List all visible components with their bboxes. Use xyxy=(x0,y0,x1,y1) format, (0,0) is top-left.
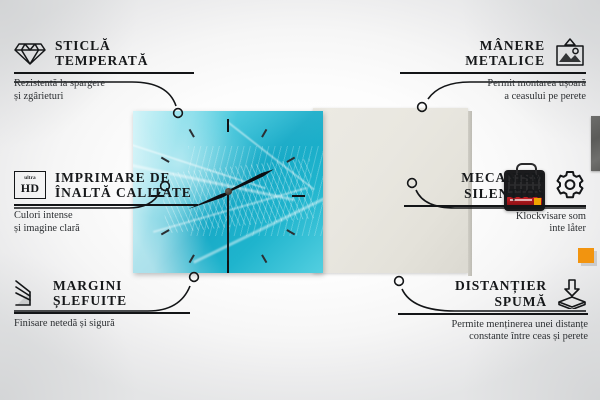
clock-tick xyxy=(227,260,229,273)
infographic-canvas: STICLĂ TEMPERATĂ Rezistentă la spargere … xyxy=(0,0,600,400)
callout-imprimare-inalta-calitate[interactable]: ultra HD IMPRIMARE DE ÎNALTĂ CALITATE Cu… xyxy=(14,170,198,235)
callout-title: MÂNERE METALICE xyxy=(465,38,545,68)
callout-subtitle: Permite menținerea unei distanțe constan… xyxy=(398,319,588,344)
callout-header: DISTANȚIER SPUMĂ xyxy=(398,278,588,309)
callout-title: IMPRIMARE DE ÎNALTĂ CALITATE xyxy=(55,170,192,200)
metal-hanger-plate xyxy=(591,116,600,171)
callout-header: MECANISM SILENȚIOS xyxy=(404,170,586,201)
callout-header: STICLĂ TEMPERATĂ xyxy=(14,38,194,68)
callout-rule xyxy=(398,313,588,315)
callout-title: DISTANȚIER SPUMĂ xyxy=(455,278,547,308)
callout-subtitle: Klockvisare som inte låter xyxy=(404,211,586,236)
callout-title: MECANISM SILENȚIOS xyxy=(461,170,545,200)
callout-rule xyxy=(400,72,586,74)
callout-header: MARGINI ȘLEFUITE xyxy=(14,278,190,308)
diamond-icon xyxy=(14,40,46,66)
callout-rule xyxy=(14,72,194,74)
callout-subtitle: Rezistentă la spargere și zgârieturi xyxy=(14,78,194,103)
callout-rule xyxy=(14,204,198,206)
clock-center-cap xyxy=(225,188,232,195)
callout-header: MÂNERE METALICE xyxy=(400,38,586,68)
callout-manere-metalice[interactable]: MÂNERE METALICE Permit montarea ușoară a… xyxy=(400,38,586,103)
callout-mecanism-silentios[interactable]: MECANISM SILENȚIOS Klockvisare som inte … xyxy=(404,170,586,236)
callout-subtitle: Finisare netedă și sigură xyxy=(14,318,190,331)
polished-edge-icon xyxy=(14,279,44,307)
callout-subtitle: Culori intense și imagine clară xyxy=(14,210,198,235)
clock-tick xyxy=(292,195,305,197)
callout-title: MARGINI ȘLEFUITE xyxy=(53,278,127,308)
clock-tick xyxy=(227,119,229,132)
foam-spacer-arrow-icon xyxy=(556,278,588,309)
picture-frame-hanger-icon xyxy=(554,38,586,68)
ultra-hd-badge-icon: ultra HD xyxy=(14,171,46,199)
foam-spacer-pad xyxy=(578,248,594,263)
clock-second-hand xyxy=(227,191,229,261)
callout-title: STICLĂ TEMPERATĂ xyxy=(55,38,148,68)
callout-sticla-temperata[interactable]: STICLĂ TEMPERATĂ Rezistentă la spargere … xyxy=(14,38,194,103)
callout-rule xyxy=(14,312,190,314)
ultra-hd-large-text: HD xyxy=(21,182,40,194)
callout-header: ultra HD IMPRIMARE DE ÎNALTĂ CALITATE xyxy=(14,170,198,200)
gear-icon xyxy=(554,170,586,201)
callout-distantier-spuma[interactable]: DISTANȚIER SPUMĂ Permite menținerea unei… xyxy=(398,278,588,344)
callout-subtitle: Permit montarea ușoară a ceasului pe per… xyxy=(400,78,586,103)
callout-margini-slefuite[interactable]: MARGINI ȘLEFUITE Finisare netedă și sigu… xyxy=(14,278,190,331)
callout-rule xyxy=(404,205,586,207)
